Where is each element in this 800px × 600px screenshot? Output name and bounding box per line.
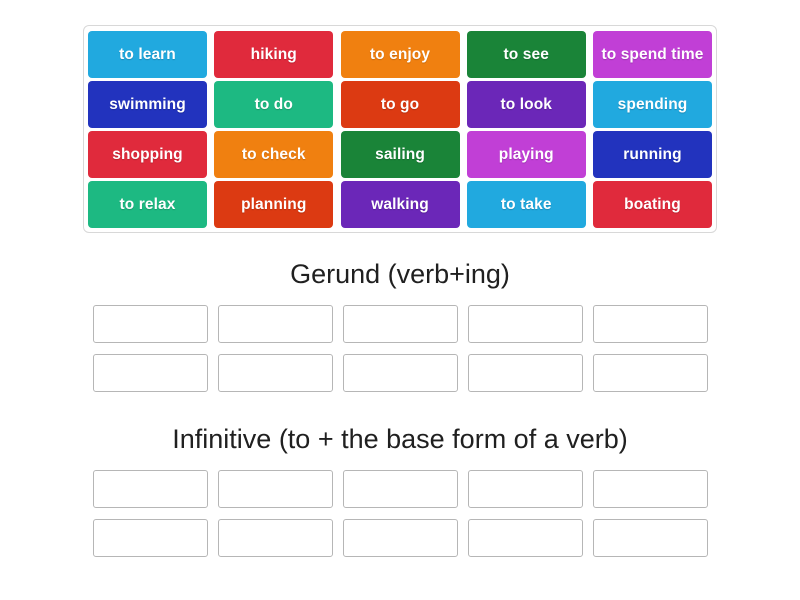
word-tile[interactable]: to learn: [88, 31, 207, 78]
word-tile[interactable]: running: [593, 131, 712, 178]
drop-slot[interactable]: [343, 519, 458, 557]
drop-slot-row: [0, 354, 800, 392]
word-tile[interactable]: to check: [214, 131, 333, 178]
drop-slot[interactable]: [468, 519, 583, 557]
drop-slot[interactable]: [593, 354, 708, 392]
group-sort-activity: to learn hiking to enjoy to see to spend…: [0, 0, 800, 600]
drop-slot-row: [0, 519, 800, 557]
word-tile[interactable]: to look: [467, 81, 586, 128]
drop-slot-row: [0, 305, 800, 343]
drop-slot[interactable]: [343, 354, 458, 392]
drop-slot[interactable]: [593, 305, 708, 343]
drop-slot[interactable]: [93, 305, 208, 343]
drop-slot[interactable]: [343, 305, 458, 343]
word-tile[interactable]: to relax: [88, 181, 207, 228]
word-tile[interactable]: playing: [467, 131, 586, 178]
drop-slot[interactable]: [218, 519, 333, 557]
drop-slot[interactable]: [468, 354, 583, 392]
word-tile[interactable]: to do: [214, 81, 333, 128]
drop-slot[interactable]: [593, 470, 708, 508]
word-tile[interactable]: shopping: [88, 131, 207, 178]
tile-bank-row: swimming to do to go to look spending: [88, 81, 712, 130]
word-tile[interactable]: to go: [341, 81, 460, 128]
word-tile[interactable]: boating: [593, 181, 712, 228]
tile-bank-row: to relax planning walking to take boatin…: [88, 181, 712, 230]
category-title-gerund: Gerund (verb+ing): [0, 258, 800, 292]
category-infinitive: Infinitive (to + the base form of a verb…: [0, 423, 800, 557]
tile-bank-row: to learn hiking to enjoy to see to spend…: [88, 31, 712, 80]
tile-bank-row: shopping to check sailing playing runnin…: [88, 131, 712, 180]
drop-slot[interactable]: [468, 305, 583, 343]
drop-slot[interactable]: [218, 305, 333, 343]
word-tile[interactable]: to spend time: [593, 31, 712, 78]
drop-slot[interactable]: [218, 354, 333, 392]
word-tile[interactable]: walking: [341, 181, 460, 228]
word-tile[interactable]: sailing: [341, 131, 460, 178]
word-tile[interactable]: planning: [214, 181, 333, 228]
drop-slot[interactable]: [93, 354, 208, 392]
word-tile[interactable]: to enjoy: [341, 31, 460, 78]
tile-bank: to learn hiking to enjoy to see to spend…: [83, 25, 717, 233]
drop-slot-row: [0, 470, 800, 508]
drop-slot[interactable]: [468, 470, 583, 508]
drop-slot[interactable]: [343, 470, 458, 508]
drop-slot[interactable]: [93, 519, 208, 557]
word-tile[interactable]: hiking: [214, 31, 333, 78]
category-title-infinitive: Infinitive (to + the base form of a verb…: [0, 423, 800, 457]
drop-slot[interactable]: [593, 519, 708, 557]
drop-slot[interactable]: [218, 470, 333, 508]
category-gerund: Gerund (verb+ing): [0, 258, 800, 392]
drop-slot[interactable]: [93, 470, 208, 508]
word-tile[interactable]: spending: [593, 81, 712, 128]
word-tile[interactable]: to take: [467, 181, 586, 228]
word-tile[interactable]: swimming: [88, 81, 207, 128]
word-tile[interactable]: to see: [467, 31, 586, 78]
